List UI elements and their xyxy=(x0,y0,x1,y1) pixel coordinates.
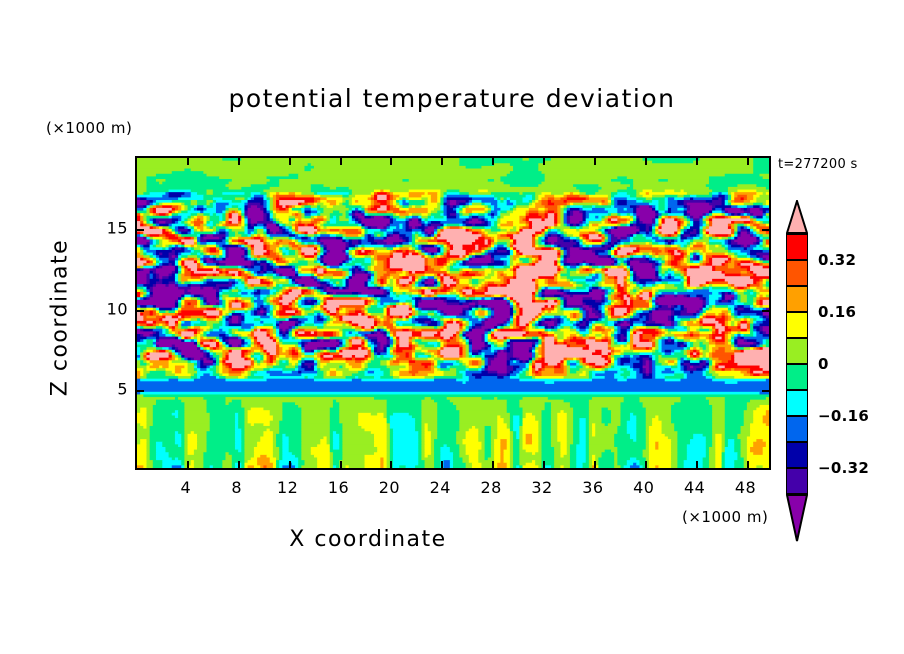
x-tick-bottom-48 xyxy=(747,461,749,468)
colorbar-segment-5 xyxy=(786,364,808,390)
y-tick-left-15 xyxy=(137,229,144,231)
colorbar-label-3: −0.16 xyxy=(818,407,869,425)
x-tick-label-40: 40 xyxy=(633,478,654,497)
x-tick-label-44: 44 xyxy=(684,478,705,497)
x-tick-bottom-36 xyxy=(594,461,596,468)
colorbar-segment-7 xyxy=(786,416,808,442)
x-tick-top-12 xyxy=(289,158,291,165)
time-label: t=277200 s xyxy=(778,157,858,172)
y-tick-label-15: 15 xyxy=(107,219,128,238)
y-tick-right-5 xyxy=(762,390,769,392)
x-tick-label-32: 32 xyxy=(531,478,552,497)
x-tick-label-36: 36 xyxy=(582,478,603,497)
x-tick-label-12: 12 xyxy=(277,478,298,497)
x-tick-top-20 xyxy=(390,158,392,165)
x-tick-top-16 xyxy=(340,158,342,165)
x-tick-bottom-24 xyxy=(441,461,443,468)
x-tick-bottom-28 xyxy=(492,461,494,468)
x-tick-top-8 xyxy=(238,158,240,165)
x-tick-bottom-40 xyxy=(645,461,647,468)
y-tick-left-5 xyxy=(137,390,144,392)
x-tick-bottom-12 xyxy=(289,461,291,468)
x-tick-label-4: 4 xyxy=(181,478,192,497)
x-tick-bottom-44 xyxy=(696,461,698,468)
y-axis-unit-label: (×1000 m) xyxy=(46,119,132,137)
x-axis-ticklabels: 4812162024283236404448 xyxy=(135,478,771,500)
colorbar-segment-6 xyxy=(786,390,808,416)
x-tick-top-28 xyxy=(492,158,494,165)
plot-title: potential temperature deviation xyxy=(0,84,904,113)
colorbar-bottom-arrow xyxy=(786,494,808,542)
y-tick-right-15 xyxy=(762,229,769,231)
y-tick-label-5: 5 xyxy=(117,380,128,399)
colorbar-label-2: 0 xyxy=(818,355,829,373)
x-tick-label-28: 28 xyxy=(480,478,501,497)
x-tick-label-20: 20 xyxy=(379,478,400,497)
colorbar-segment-4 xyxy=(786,338,808,364)
colorbar-segment-3 xyxy=(786,312,808,338)
contour-field xyxy=(137,158,769,468)
colorbar-segment-9 xyxy=(786,468,808,494)
y-tick-label-10: 10 xyxy=(107,299,128,318)
colorbar-top-arrow xyxy=(786,200,808,234)
x-tick-top-24 xyxy=(441,158,443,165)
x-tick-label-8: 8 xyxy=(231,478,242,497)
x-tick-bottom-32 xyxy=(543,461,545,468)
x-tick-bottom-20 xyxy=(390,461,392,468)
colorbar-label-4: −0.32 xyxy=(818,459,869,477)
y-axis-title: Z coordinate xyxy=(48,198,73,438)
colorbar-segment-1 xyxy=(786,260,808,286)
y-tick-left-10 xyxy=(137,310,144,312)
x-tick-label-48: 48 xyxy=(735,478,756,497)
x-axis-unit-label: (×1000 m) xyxy=(682,508,768,526)
x-tick-top-32 xyxy=(543,158,545,165)
colorbar-label-1: 0.16 xyxy=(818,303,856,321)
x-tick-top-4 xyxy=(187,158,189,165)
contour-plot-area xyxy=(135,156,771,470)
y-axis-ticklabels: 51015 xyxy=(88,156,128,470)
x-tick-bottom-4 xyxy=(187,461,189,468)
colorbar-segment-2 xyxy=(786,286,808,312)
x-tick-top-36 xyxy=(594,158,596,165)
x-tick-bottom-16 xyxy=(340,461,342,468)
colorbar-segment-8 xyxy=(786,442,808,468)
x-tick-top-48 xyxy=(747,158,749,165)
x-tick-label-16: 16 xyxy=(328,478,349,497)
x-tick-top-44 xyxy=(696,158,698,165)
y-tick-right-10 xyxy=(762,310,769,312)
x-tick-label-24: 24 xyxy=(430,478,451,497)
colorbar-segment-0 xyxy=(786,234,808,260)
x-tick-top-40 xyxy=(645,158,647,165)
colorbar xyxy=(786,200,808,526)
x-axis-title: X coordinate xyxy=(0,527,736,552)
x-tick-bottom-8 xyxy=(238,461,240,468)
colorbar-label-0: 0.32 xyxy=(818,251,856,269)
